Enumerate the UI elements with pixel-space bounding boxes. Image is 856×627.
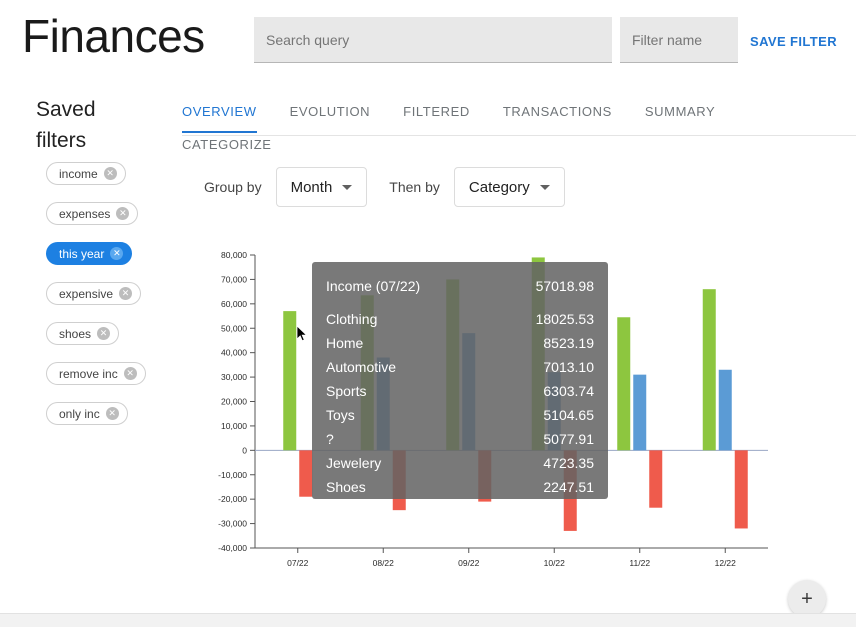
- chart-bar-expense-11-22: [649, 450, 662, 507]
- y-axis-tick-label: 20,000: [221, 397, 247, 407]
- x-axis-tick-label: 10/22: [544, 558, 566, 568]
- tooltip-row-value: 5104.65: [543, 403, 594, 427]
- app-header: Finances SAVE FILTER: [0, 0, 856, 80]
- filter-chip-shoes[interactable]: shoes✕: [46, 322, 119, 345]
- y-axis-tick-label: -10,000: [218, 470, 247, 480]
- tab-bar: OVERVIEWEVOLUTIONFILTEREDTRANSACTIONSSUM…: [182, 100, 856, 136]
- tooltip-row-name: Sports: [326, 379, 366, 403]
- chart-bar-income-12-22: [703, 289, 716, 450]
- close-icon[interactable]: ✕: [119, 287, 132, 300]
- filter-chip-label: income: [59, 167, 98, 181]
- tab-transactions[interactable]: TRANSACTIONS: [503, 100, 612, 133]
- tooltip-row-name: Clothing: [326, 307, 377, 331]
- tooltip-row-value: 5077.91: [543, 427, 594, 451]
- y-axis-tick-label: -20,000: [218, 494, 247, 504]
- y-axis-tick-label: 60,000: [221, 299, 247, 309]
- filter-chip-label: shoes: [59, 327, 91, 341]
- filter-chip-income[interactable]: income✕: [46, 162, 126, 185]
- then-by-value: Category: [469, 179, 530, 196]
- tab-evolution[interactable]: EVOLUTION: [290, 100, 371, 133]
- y-axis-tick-label: 10,000: [221, 421, 247, 431]
- tooltip-row-value: 7013.10: [543, 355, 594, 379]
- x-axis-tick-label: 11/22: [629, 558, 650, 568]
- chevron-down-icon: [342, 185, 352, 190]
- close-icon[interactable]: ✕: [104, 167, 117, 180]
- close-icon[interactable]: ✕: [116, 207, 129, 220]
- save-filter-button[interactable]: SAVE FILTER: [748, 30, 839, 53]
- tooltip-row: Clothing18025.53: [326, 307, 594, 331]
- tooltip-title: Income (07/22): [326, 274, 420, 298]
- app-root: Finances SAVE FILTER Saved filters incom…: [0, 0, 856, 627]
- filter-chip-label: remove inc: [59, 367, 118, 381]
- tooltip-row: Sports6303.74: [326, 379, 594, 403]
- x-axis-tick-label: 12/22: [715, 558, 737, 568]
- tab-categorize[interactable]: CATEGORIZE: [182, 133, 272, 166]
- tooltip-row-name: Automotive: [326, 355, 396, 379]
- grouping-controls: Group by Month Then by Category: [204, 166, 587, 208]
- filter-chip-label: expenses: [59, 207, 110, 221]
- filter-chip-remove-inc[interactable]: remove inc✕: [46, 362, 146, 385]
- chart-bar-income-07-22: [283, 311, 296, 450]
- tooltip-rows: Clothing18025.53Home8523.19Automotive701…: [326, 307, 594, 499]
- tooltip-row: Toys5104.65: [326, 403, 594, 427]
- tooltip-row: Jewelery4723.35: [326, 451, 594, 475]
- saved-filters-sidebar: Saved filters income✕expenses✕this year✕…: [0, 86, 182, 446]
- tab-summary[interactable]: SUMMARY: [645, 100, 715, 133]
- chevron-down-icon: [540, 185, 550, 190]
- y-axis-tick-label: 0: [242, 445, 247, 455]
- tooltip-row: ?5077.91: [326, 427, 594, 451]
- filter-chip-label: this year: [59, 247, 104, 261]
- filter-chip-label: only inc: [59, 407, 100, 421]
- x-axis-tick-label: 08/22: [373, 558, 395, 568]
- tooltip-row-name: Home: [326, 331, 363, 355]
- saved-filters-title: Saved filters: [36, 94, 146, 156]
- filter-chip-only-inc[interactable]: only inc✕: [46, 402, 128, 425]
- y-axis-tick-label: 30,000: [221, 372, 247, 382]
- tooltip-row-name: ?: [326, 427, 334, 451]
- tooltip-title-value: 57018.98: [536, 274, 594, 298]
- page-title: Finances: [22, 6, 205, 66]
- tooltip-header-row: Income (07/22) 57018.98: [326, 274, 594, 298]
- tab-filtered[interactable]: FILTERED: [403, 100, 470, 133]
- tooltip-row-value: 4723.35: [543, 451, 594, 475]
- filter-chip-expenses[interactable]: expenses✕: [46, 202, 138, 225]
- chart-tooltip: Income (07/22) 57018.98 Clothing18025.53…: [312, 262, 608, 499]
- x-axis-tick-label: 09/22: [458, 558, 480, 568]
- y-axis-tick-label: 50,000: [221, 323, 247, 333]
- tooltip-row: Home8523.19: [326, 331, 594, 355]
- search-input[interactable]: [254, 17, 612, 63]
- filter-chip-list: income✕expenses✕this year✕expensive✕shoe…: [0, 162, 182, 442]
- group-by-label: Group by: [204, 179, 262, 195]
- y-axis-tick-label: 40,000: [221, 348, 247, 358]
- filter-chip-this-year[interactable]: this year✕: [46, 242, 132, 265]
- tooltip-row-name: Jewelery: [326, 451, 381, 475]
- tooltip-row: Automotive7013.10: [326, 355, 594, 379]
- filter-chip-expensive[interactable]: expensive✕: [46, 282, 141, 305]
- close-icon[interactable]: ✕: [110, 247, 123, 260]
- group-by-select[interactable]: Month: [276, 167, 368, 207]
- close-icon[interactable]: ✕: [97, 327, 110, 340]
- filter-chip-label: expensive: [59, 287, 113, 301]
- group-by-value: Month: [291, 179, 333, 196]
- y-axis-tick-label: 80,000: [221, 250, 247, 260]
- close-icon[interactable]: ✕: [124, 367, 137, 380]
- chart-bar-expense-12-22: [735, 450, 748, 528]
- filter-name-input[interactable]: [620, 17, 738, 63]
- bottom-strip: [0, 613, 856, 627]
- tooltip-row-value: 8523.19: [543, 331, 594, 355]
- close-icon[interactable]: ✕: [106, 407, 119, 420]
- chart-bar-neutral-11-22: [633, 375, 646, 451]
- y-axis-tick-label: -40,000: [218, 543, 247, 553]
- x-axis-tick-label: 07/22: [287, 558, 309, 568]
- tooltip-row: Shoes2247.51: [326, 475, 594, 499]
- y-axis-tick-label: 70,000: [221, 274, 247, 284]
- y-axis-tick-label: -30,000: [218, 519, 247, 529]
- chart-bar-income-11-22: [617, 317, 630, 450]
- tab-overview[interactable]: OVERVIEW: [182, 100, 257, 133]
- tooltip-row-value: 6303.74: [543, 379, 594, 403]
- then-by-select[interactable]: Category: [454, 167, 565, 207]
- chart-bar-expense-07-22: [299, 450, 312, 496]
- tooltip-row-value: 2247.51: [543, 475, 594, 499]
- tooltip-row-value: 18025.53: [536, 307, 594, 331]
- tooltip-row-name: Shoes: [326, 475, 366, 499]
- tooltip-row-name: Toys: [326, 403, 355, 427]
- chart-bar-neutral-12-22: [719, 370, 732, 451]
- then-by-label: Then by: [389, 179, 440, 195]
